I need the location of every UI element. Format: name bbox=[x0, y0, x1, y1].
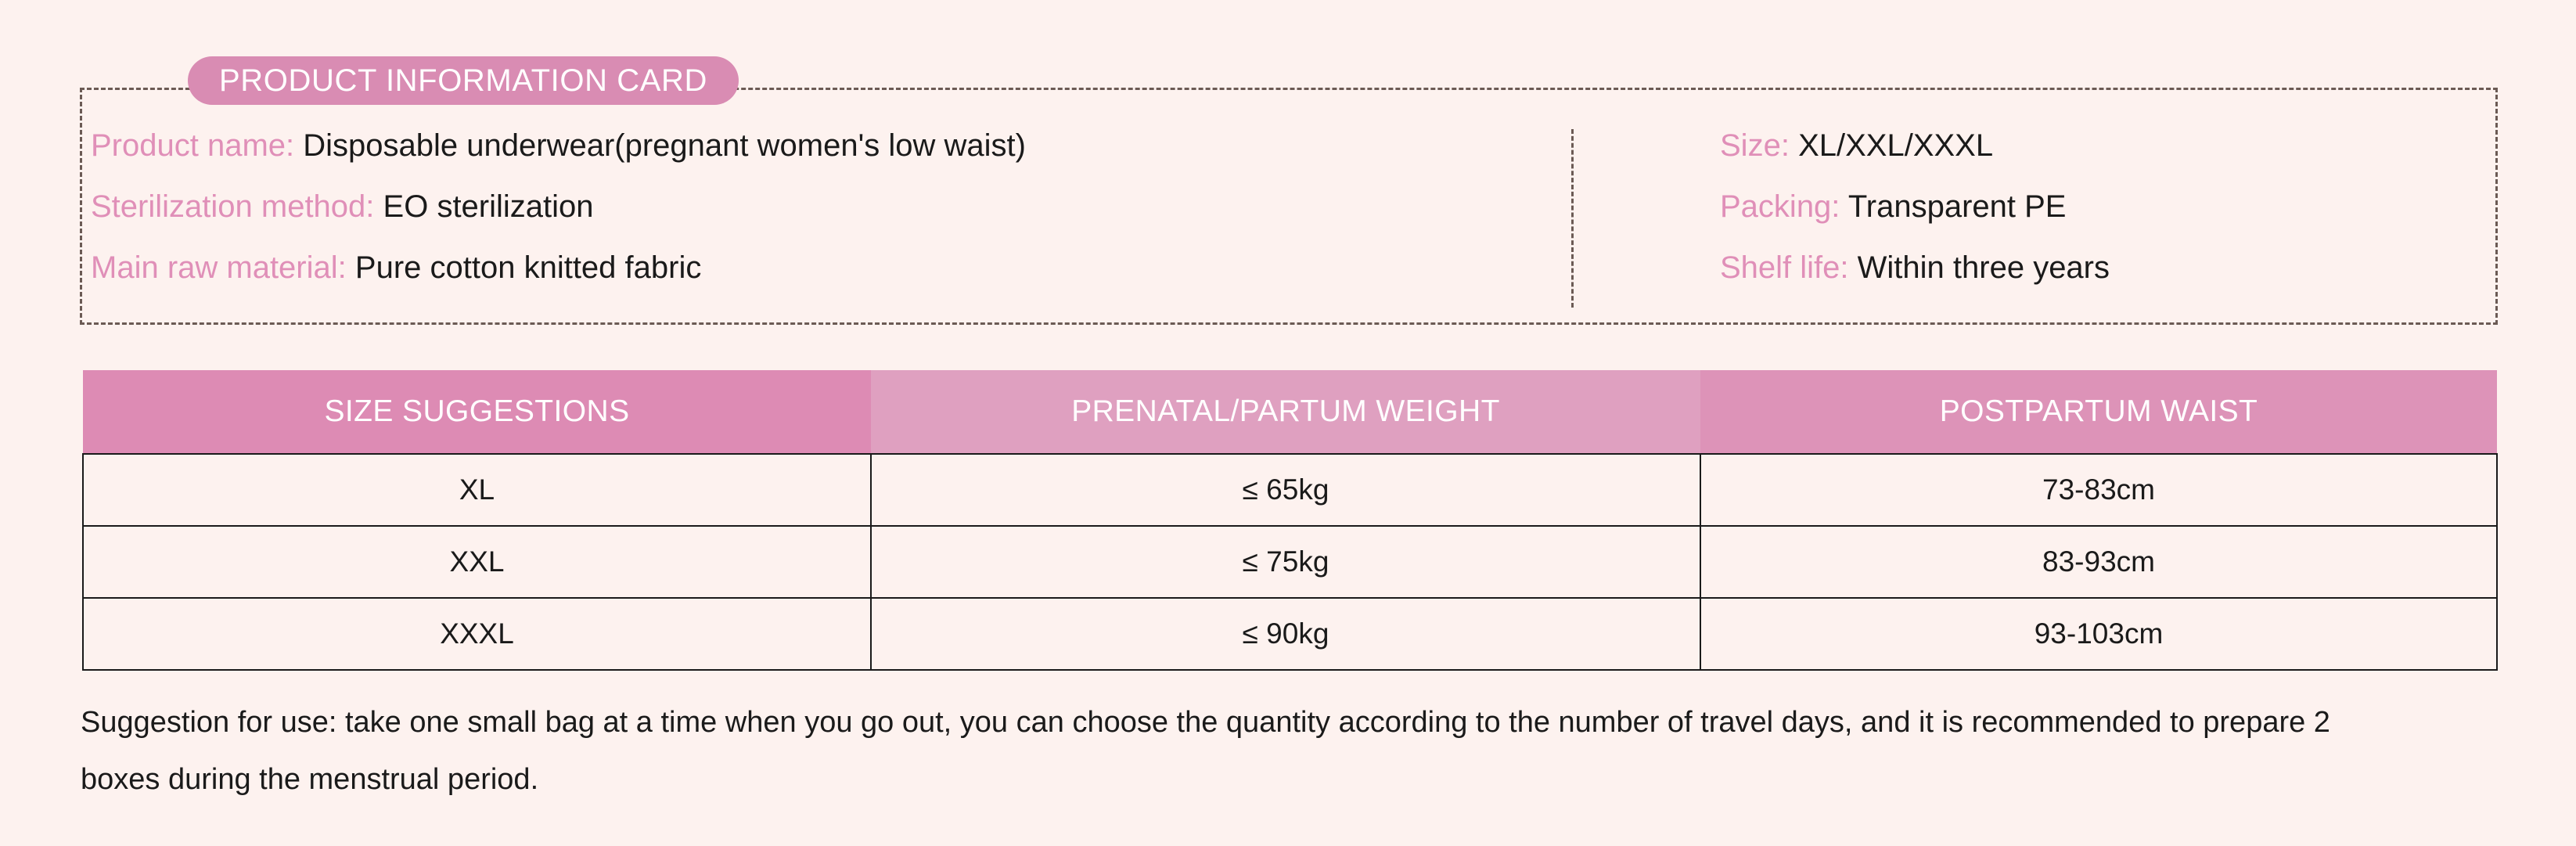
spec-value-product-name: Disposable underwear(pregnant women's lo… bbox=[303, 128, 1026, 163]
spec-label-main-raw-material: Main raw material: bbox=[91, 250, 347, 285]
cell-waist: 93-103cm bbox=[1700, 598, 2497, 670]
spec-row-shelf-life: Shelf life: Within three years bbox=[1720, 252, 2498, 283]
cell-weight: ≤ 75kg bbox=[871, 526, 1700, 598]
spec-row-size: Size: XL/XXL/XXXL bbox=[1720, 130, 2498, 161]
product-information-card-title-badge: PRODUCT INFORMATION CARD bbox=[188, 56, 739, 105]
cell-weight: ≤ 90kg bbox=[871, 598, 1700, 670]
spec-value-packing: Transparent PE bbox=[1848, 189, 2067, 224]
table-header-postpartum-waist: POSTPARTUM WAIST bbox=[1700, 370, 2497, 454]
info-card-columns: Product name: Disposable underwear(pregn… bbox=[80, 88, 2498, 325]
spec-row-product-name: Product name: Disposable underwear(pregn… bbox=[91, 130, 1571, 161]
cell-size: XXL bbox=[83, 526, 871, 598]
spec-label-size: Size: bbox=[1720, 128, 1790, 163]
table-row: XXXL ≤ 90kg 93-103cm bbox=[83, 598, 2497, 670]
table-header-size-suggestions: SIZE SUGGESTIONS bbox=[83, 370, 871, 454]
spec-value-main-raw-material: Pure cotton knitted fabric bbox=[355, 250, 701, 285]
table-header-prenatal-partum-weight: PRENATAL/PARTUM WEIGHT bbox=[871, 370, 1700, 454]
spec-label-shelf-life: Shelf life: bbox=[1720, 250, 1849, 285]
usage-suggestion-text: Suggestion for use: take one small bag a… bbox=[81, 694, 2397, 808]
info-card-left-column: Product name: Disposable underwear(pregn… bbox=[80, 88, 1571, 325]
spec-label-packing: Packing: bbox=[1720, 189, 1840, 224]
spec-row-packing: Packing: Transparent PE bbox=[1720, 191, 2498, 222]
cell-size: XL bbox=[83, 454, 871, 526]
table-row: XL ≤ 65kg 73-83cm bbox=[83, 454, 2497, 526]
product-information-card-title: PRODUCT INFORMATION CARD bbox=[219, 65, 707, 96]
cell-waist: 73-83cm bbox=[1700, 454, 2497, 526]
table-header-row: SIZE SUGGESTIONS PRENATAL/PARTUM WEIGHT … bbox=[83, 370, 2497, 454]
cell-weight: ≤ 65kg bbox=[871, 454, 1700, 526]
spec-label-product-name: Product name: bbox=[91, 128, 294, 163]
size-suggestion-table: SIZE SUGGESTIONS PRENATAL/PARTUM WEIGHT … bbox=[82, 370, 2498, 671]
spec-row-sterilization-method: Sterilization method: EO sterilization bbox=[91, 191, 1571, 222]
cell-size: XXXL bbox=[83, 598, 871, 670]
spec-label-sterilization-method: Sterilization method: bbox=[91, 189, 374, 224]
spec-value-shelf-life: Within three years bbox=[1858, 250, 2110, 285]
spec-value-size: XL/XXL/XXXL bbox=[1798, 128, 1993, 163]
spec-row-main-raw-material: Main raw material: Pure cotton knitted f… bbox=[91, 252, 1571, 283]
table-row: XXL ≤ 75kg 83-93cm bbox=[83, 526, 2497, 598]
cell-waist: 83-93cm bbox=[1700, 526, 2497, 598]
info-card-right-column: Size: XL/XXL/XXXL Packing: Transparent P… bbox=[1571, 88, 2498, 325]
spec-value-sterilization-method: EO sterilization bbox=[383, 189, 594, 224]
